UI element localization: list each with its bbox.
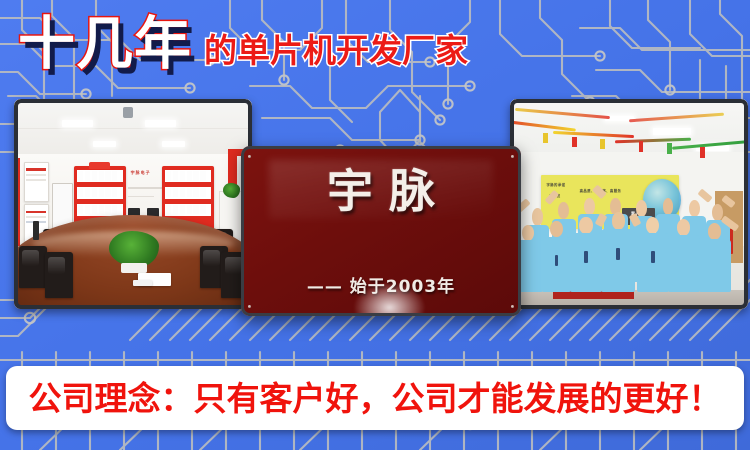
wall-company-text: 宇脉电子 — [131, 170, 151, 176]
wall-line1: 宇脉的承诺 — [546, 182, 565, 187]
conference-room-photo: 宇脉电子 — [14, 99, 252, 309]
sign-glare-spot — [353, 282, 426, 316]
photo-card-company-sign: 宇脉 —— 始于2003年 — [241, 146, 521, 316]
company-sign-photo: 宇脉 —— 始于2003年 — [241, 146, 521, 316]
bottom-slogan-banner: 公司理念：只有客户好，公司才能发展的更好！ — [6, 366, 744, 430]
team-celebration-photo: 宇脉的承诺 高科技 高品质、高效率、高服务 客户端 — [510, 99, 748, 309]
photo-card-team: 宇脉的承诺 高科技 高品质、高效率、高服务 客户端 — [510, 99, 748, 309]
sign-title: 宇脉 — [241, 168, 521, 214]
promo-banner-image: 十几年 的单片机开发厂家 — [0, 0, 750, 450]
photo-card-conference-room: 宇脉电子 — [14, 99, 252, 309]
bottom-slogan-text: 公司理念：只有客户好，公司才能发展的更好！ — [29, 382, 722, 415]
